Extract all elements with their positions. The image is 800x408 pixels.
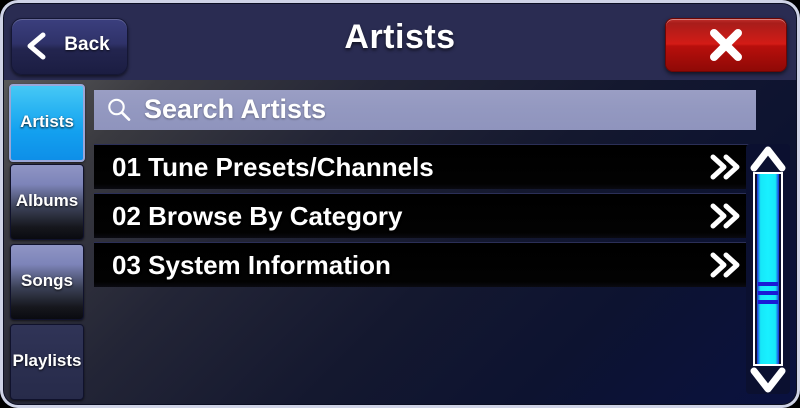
chevron-down-icon <box>750 381 786 398</box>
sidebar-item-label: Songs <box>11 271 83 291</box>
scrollbar[interactable] <box>746 144 790 394</box>
double-chevron-right-icon <box>708 202 742 230</box>
sidebar-item-label: Artists <box>11 112 83 132</box>
close-button[interactable] <box>665 18 787 72</box>
screen: Back Artists Artists Albums <box>4 4 796 404</box>
scrollbar-grip-line <box>758 291 778 295</box>
sidebar-item-label: Albums <box>11 191 83 211</box>
list-item[interactable]: 02 Browse By Category <box>94 193 756 238</box>
menu-list: 01 Tune Presets/Channels 02 Browse By Ca… <box>94 144 756 291</box>
search-input[interactable]: Search Artists <box>94 90 756 130</box>
sidebar: Artists Albums Songs Playlists <box>6 80 86 404</box>
scrollbar-grip-line <box>758 282 778 286</box>
scroll-up-button[interactable] <box>750 144 786 172</box>
sidebar-item-songs[interactable]: Songs <box>10 244 84 320</box>
sidebar-item-label: Playlists <box>11 351 83 371</box>
list-item[interactable]: 01 Tune Presets/Channels <box>94 144 756 189</box>
scrollbar-thumb[interactable] <box>757 174 779 364</box>
device-frame: Back Artists Artists Albums <box>0 0 800 408</box>
search-placeholder: Search Artists <box>144 94 326 125</box>
sidebar-item-playlists[interactable]: Playlists <box>10 324 84 400</box>
scrollbar-grip-line <box>758 300 778 304</box>
list-item-label: 02 Browse By Category <box>112 201 402 232</box>
double-chevron-right-icon <box>708 153 742 181</box>
scroll-down-button[interactable] <box>750 366 786 394</box>
list-item-label: 03 System Information <box>112 250 391 281</box>
list-item[interactable]: 03 System Information <box>94 242 756 287</box>
scrollbar-track[interactable] <box>753 172 783 366</box>
close-x-icon <box>666 19 786 71</box>
search-magnifier-icon <box>106 97 132 123</box>
sidebar-item-albums[interactable]: Albums <box>10 164 84 240</box>
double-chevron-right-icon <box>708 251 742 279</box>
list-item-label: 01 Tune Presets/Channels <box>112 152 434 183</box>
sidebar-item-artists[interactable]: Artists <box>9 84 85 162</box>
title-bar: Back Artists <box>4 4 796 80</box>
content-area: Artists Albums Songs Playlists <box>4 80 796 404</box>
